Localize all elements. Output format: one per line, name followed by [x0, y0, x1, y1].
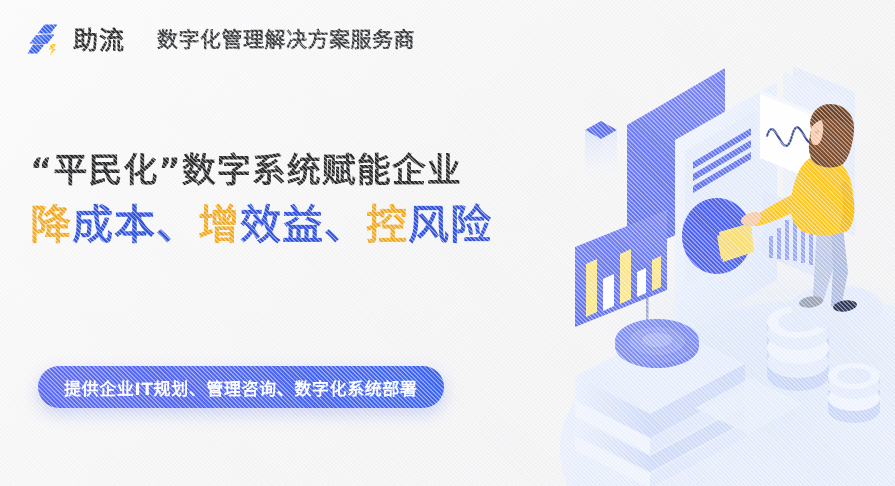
hero-banner: 助流 数字化管理解决方案服务商 “平民化”数字系统赋能企业 降成本、增效益、控风… — [0, 0, 895, 486]
brand-header: 助流 数字化管理解决方案服务商 — [27, 22, 415, 58]
headline-part-5: 控 — [366, 201, 408, 249]
brand-tagline: 数字化管理解决方案服务商 — [157, 30, 415, 51]
small-isometric-column — [585, 121, 617, 185]
headline-part-1: 降 — [30, 201, 72, 249]
headline-part-2: 成本、 — [72, 201, 198, 249]
headline-line-1: “平民化”数字系统赋能企业 — [30, 152, 550, 191]
disc-platter — [615, 319, 699, 368]
headline-line-2: 降成本、增效益、控风险 — [30, 203, 550, 248]
headline-part-6: 风险 — [408, 201, 492, 249]
hero-headline-block: “平民化”数字系统赋能企业 降成本、增效益、控风险 — [30, 152, 550, 248]
headline-part-4: 效益、 — [240, 201, 366, 249]
headline-part-3: 增 — [198, 201, 240, 249]
service-scope-pill-button[interactable]: 提供企业IT规划、管理咨询、数字化系统部署 — [38, 366, 444, 408]
brand-name: 助流 — [73, 28, 125, 53]
isometric-data-dashboard-illustration — [545, 40, 895, 486]
lightning-bolt-logo-icon — [27, 22, 63, 58]
